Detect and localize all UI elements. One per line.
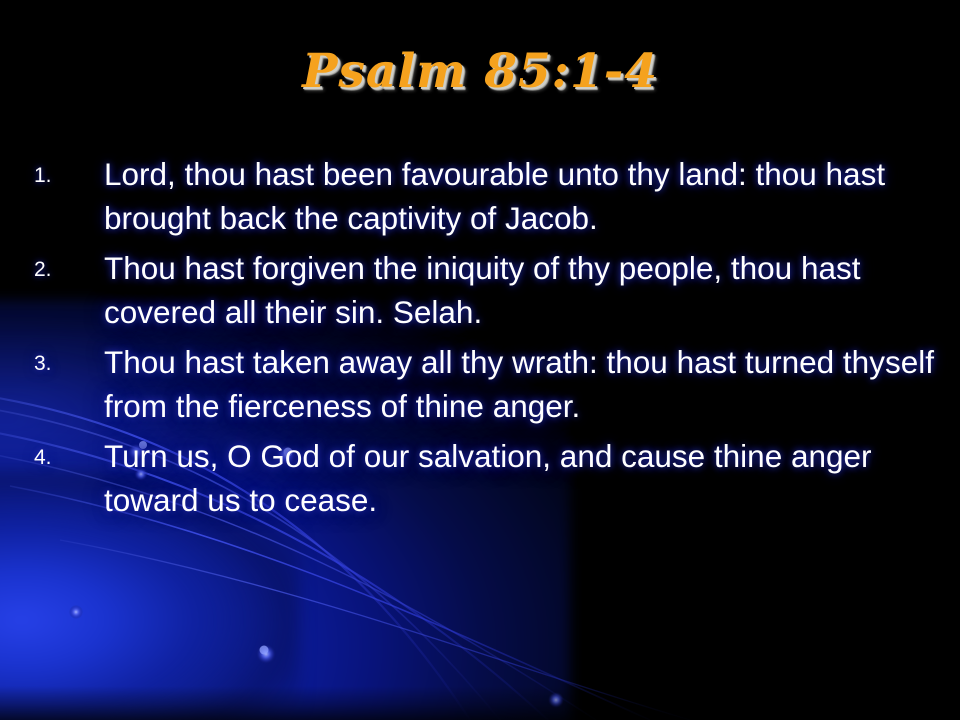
list-item-text: Thou hast taken away all thy wrath: thou… <box>104 340 940 428</box>
list-item-number: 4. <box>34 434 92 481</box>
list-item-text: Turn us, O God of our salvation, and cau… <box>104 434 940 522</box>
list-item-text: Lord, thou hast been favourable unto thy… <box>104 152 940 240</box>
slide-content: Psalm 85:1-4 1. Lord, thou hast been fav… <box>0 0 960 720</box>
list-item-number: 2. <box>34 246 92 293</box>
presentation-slide: Psalm 85:1-4 1. Lord, thou hast been fav… <box>0 0 960 720</box>
list-item: 4. Turn us, O God of our salvation, and … <box>28 434 940 522</box>
list-item-text: Thou hast forgiven the iniquity of thy p… <box>104 246 940 334</box>
list-item: 3. Thou hast taken away all thy wrath: t… <box>28 340 940 428</box>
list-item-number: 3. <box>34 340 92 387</box>
list-item-number: 1. <box>34 152 92 199</box>
scripture-list: 1. Lord, thou hast been favourable unto … <box>28 152 940 528</box>
slide-title: Psalm 85:1-4 <box>0 44 960 99</box>
list-item: 2. Thou hast forgiven the iniquity of th… <box>28 246 940 334</box>
list-item: 1. Lord, thou hast been favourable unto … <box>28 152 940 240</box>
